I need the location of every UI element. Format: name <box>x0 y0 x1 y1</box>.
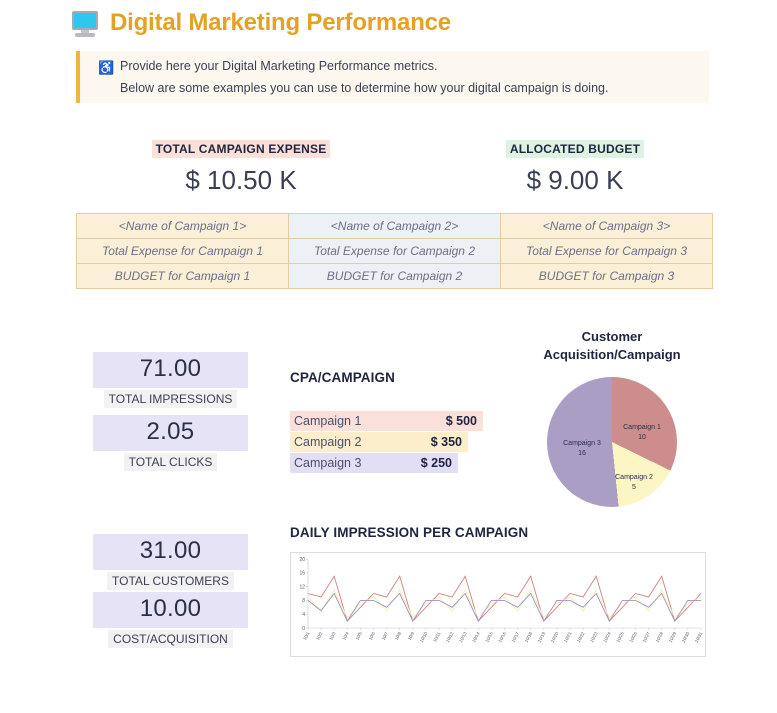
svg-text:10/7: 10/7 <box>381 631 390 641</box>
pie-slice-label-campaign-2: Campaign 2 5 <box>609 473 659 493</box>
stat-total-customers: 31.00 TOTAL CUSTOMERS <box>93 534 248 590</box>
kpi-expense-label: TOTAL CAMPAIGN EXPENSE <box>152 140 331 158</box>
svg-text:10/11: 10/11 <box>432 631 442 643</box>
svg-text:10/1: 10/1 <box>302 631 311 641</box>
info-banner-text: Provide here your Digital Marketing Perf… <box>120 55 608 100</box>
pie-title-line-2: Acquisition/Campaign <box>516 346 708 364</box>
svg-text:10/5: 10/5 <box>354 631 363 641</box>
pie-chart-title: Customer Acquisition/Campaign <box>516 328 708 363</box>
svg-text:10/9: 10/9 <box>407 631 416 641</box>
kpi-total-campaign-expense: TOTAL CAMPAIGN EXPENSE $ 10.50 K <box>96 140 386 196</box>
svg-text:10/12: 10/12 <box>445 631 455 644</box>
cpa-row-name: Campaign 2 <box>294 435 361 449</box>
stat-value: 31.00 <box>93 534 248 570</box>
svg-text:10/4: 10/4 <box>341 631 350 641</box>
cpa-row-value: $ 350 <box>431 435 462 449</box>
svg-text:4: 4 <box>302 612 305 618</box>
cpa-title: CPA/CAMPAIGN <box>290 370 490 385</box>
stat-cost-per-acquisition: 10.00 COST/ACQUISITION <box>93 592 248 648</box>
slice-name: Campaign 2 <box>609 473 659 483</box>
svg-text:10/20: 10/20 <box>550 631 560 644</box>
stat-label: TOTAL CUSTOMERS <box>107 572 234 590</box>
slice-value: 5 <box>609 483 659 493</box>
pie-title-line-1: Customer <box>516 328 708 346</box>
dashboard-page: Digital Marketing Performance ♿ Provide … <box>0 0 777 713</box>
svg-text:10/22: 10/22 <box>576 631 586 644</box>
svg-text:10/8: 10/8 <box>394 631 403 641</box>
slice-name: Campaign 1 <box>613 423 671 433</box>
info-banner: ♿ Provide here your Digital Marketing Pe… <box>76 51 709 103</box>
table-cell[interactable]: <Name of Campaign 2> <box>289 214 501 239</box>
info-line-2: Below are some examples you can use to d… <box>120 77 608 99</box>
svg-text:10/21: 10/21 <box>563 631 573 644</box>
cpa-row-name: Campaign 3 <box>294 456 361 470</box>
cpa-row-value: $ 500 <box>446 414 477 428</box>
info-line-1: Provide here your Digital Marketing Perf… <box>120 55 608 77</box>
stat-value: 10.00 <box>93 592 248 628</box>
pie-slice-label-campaign-1: Campaign 1 10 <box>613 423 671 443</box>
svg-text:10/16: 10/16 <box>497 631 507 644</box>
svg-text:10/25: 10/25 <box>615 631 625 644</box>
line-chart-title: DAILY IMPRESSION PER CAMPAIGN <box>290 525 708 540</box>
stat-total-clicks: 2.05 TOTAL CLICKS <box>93 415 248 471</box>
cpa-row: Campaign 2 $ 350 <box>290 432 468 452</box>
line-chart-section: DAILY IMPRESSION PER CAMPAIGN 0481216201… <box>290 525 708 657</box>
kpi-allocated-budget: ALLOCATED BUDGET $ 9.00 K <box>430 140 720 196</box>
pie-chart: Campaign 1 10 Campaign 2 5 Campaign 3 16 <box>547 377 677 507</box>
svg-text:10/24: 10/24 <box>602 631 612 644</box>
table-cell[interactable]: Total Expense for Campaign 2 <box>289 239 501 264</box>
stat-label: TOTAL CLICKS <box>124 453 218 471</box>
svg-text:10/17: 10/17 <box>511 631 521 644</box>
pie-chart-section: Customer Acquisition/Campaign Campaign 1… <box>516 328 708 507</box>
cpa-row-name: Campaign 1 <box>294 414 361 428</box>
svg-text:10/10: 10/10 <box>419 631 429 644</box>
cpa-row: Campaign 1 $ 500 <box>290 411 483 431</box>
svg-text:10/13: 10/13 <box>458 631 468 644</box>
table-row: BUDGET for Campaign 1 BUDGET for Campaig… <box>77 264 713 289</box>
kpi-budget-label: ALLOCATED BUDGET <box>506 140 644 158</box>
stat-total-impressions: 71.00 TOTAL IMPRESSIONS <box>93 352 248 408</box>
slice-value: 10 <box>613 433 671 443</box>
svg-text:10/2: 10/2 <box>315 631 324 641</box>
stat-value: 71.00 <box>93 352 248 388</box>
svg-text:10/26: 10/26 <box>628 631 638 644</box>
cpa-row-value: $ 250 <box>421 456 452 470</box>
cpa-section: CPA/CAMPAIGN Campaign 1 $ 500 Campaign 2… <box>290 370 490 474</box>
svg-text:10/3: 10/3 <box>328 631 337 641</box>
svg-text:10/14: 10/14 <box>471 631 481 644</box>
kpi-expense-value: $ 10.50 K <box>96 165 386 196</box>
monitor-icon <box>70 8 100 38</box>
table-cell[interactable]: Total Expense for Campaign 1 <box>77 239 289 264</box>
stat-value: 2.05 <box>93 415 248 451</box>
cpa-rows: Campaign 1 $ 500 Campaign 2 $ 350 Campai… <box>290 411 490 473</box>
table-cell[interactable]: <Name of Campaign 3> <box>501 214 713 239</box>
svg-text:8: 8 <box>302 598 305 604</box>
svg-text:10/27: 10/27 <box>642 631 652 644</box>
svg-text:20: 20 <box>299 557 305 563</box>
svg-text:10/29: 10/29 <box>668 631 678 644</box>
slice-name: Campaign 3 <box>553 439 611 449</box>
pie-slice-label-campaign-3: Campaign 3 16 <box>553 439 611 459</box>
table-row: <Name of Campaign 1> <Name of Campaign 2… <box>77 214 713 239</box>
table-row: Total Expense for Campaign 1 Total Expen… <box>77 239 713 264</box>
page-title: Digital Marketing Performance <box>110 9 451 37</box>
svg-text:10/19: 10/19 <box>537 631 547 644</box>
svg-text:10/31: 10/31 <box>694 631 704 644</box>
cpa-row: Campaign 3 $ 250 <box>290 453 458 473</box>
svg-text:0: 0 <box>302 626 305 632</box>
table-cell[interactable]: Total Expense for Campaign 3 <box>501 239 713 264</box>
slice-value: 16 <box>553 449 611 459</box>
kpi-budget-value: $ 9.00 K <box>430 165 720 196</box>
stat-label: TOTAL IMPRESSIONS <box>104 390 238 408</box>
table-cell[interactable]: BUDGET for Campaign 1 <box>77 264 289 289</box>
table-cell[interactable]: BUDGET for Campaign 3 <box>501 264 713 289</box>
table-cell[interactable]: <Name of Campaign 1> <box>77 214 289 239</box>
line-chart-svg: 04812162010/110/210/310/410/510/610/710/… <box>291 553 705 656</box>
svg-text:10/15: 10/15 <box>484 631 494 644</box>
lightbulb-icon: ♿ <box>98 61 112 74</box>
table-cell[interactable]: BUDGET for Campaign 2 <box>289 264 501 289</box>
svg-text:10/30: 10/30 <box>681 631 691 644</box>
svg-text:10/28: 10/28 <box>655 631 665 644</box>
page-header: Digital Marketing Performance <box>70 8 451 38</box>
svg-text:10/18: 10/18 <box>524 631 534 644</box>
svg-text:16: 16 <box>299 571 305 577</box>
stat-label: COST/ACQUISITION <box>108 630 233 648</box>
campaign-table: <Name of Campaign 1> <Name of Campaign 2… <box>76 213 713 289</box>
svg-text:10/6: 10/6 <box>368 631 377 641</box>
line-chart: 04812162010/110/210/310/410/510/610/710/… <box>290 552 706 657</box>
svg-text:12: 12 <box>299 584 305 590</box>
svg-text:10/23: 10/23 <box>589 631 599 644</box>
